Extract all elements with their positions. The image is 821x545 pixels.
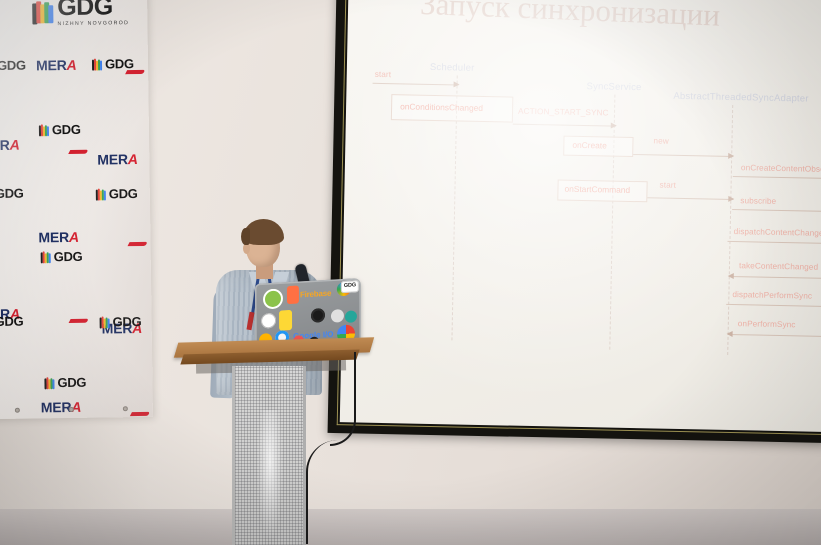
msg-label-dispatchperformsync: dispatchPerformSync [732, 290, 812, 301]
msg-label-new: new [653, 136, 669, 145]
banner-tile-mera: MERA [97, 150, 153, 166]
msg-arrow-action-start-sync [513, 124, 616, 127]
msg-arrow-new [633, 154, 733, 157]
sticker-flame [287, 285, 299, 304]
lifeline-adapter [727, 105, 733, 355]
msg-label-takecontentchanged: takeContentChanged [739, 261, 818, 272]
sticker-green-circle [263, 288, 283, 309]
banner-tile-mera: MERA [38, 228, 153, 244]
power-cable [306, 440, 338, 544]
banner-main-logo: GDG NIZHNY NOVGOROD [31, 0, 129, 27]
msg-arrow-start-adapter [647, 197, 733, 200]
activation-label-onconditionschanged: onConditionsChanged [400, 101, 483, 113]
sticker-gray-circle [331, 309, 344, 323]
msg-arrow-onperformsync [728, 334, 821, 338]
banner-tile-gdg: GDG [100, 313, 142, 332]
lifeline-syncservice [609, 95, 615, 350]
mera-swoosh-icon [128, 242, 148, 246]
banner-grommet [123, 406, 128, 411]
lifeline-label-scheduler: Scheduler [430, 62, 475, 74]
banner-tile-gdg: GDG [92, 55, 134, 74]
msg-arrow-subscribe [732, 209, 821, 213]
banner-tile-gdg: GDG [39, 121, 81, 140]
banner-grommet [69, 407, 74, 412]
msg-label-subscribe: subscribe [740, 196, 776, 206]
sticker-firebase-label: Firebase [300, 289, 331, 300]
projection-screen: Запуск синхронизации Scheduler SyncServi… [328, 0, 821, 443]
gdg-stag-icon [39, 124, 50, 136]
gdg-stag-icon [41, 251, 52, 263]
msg-arrow-oncreatecontentobserver [733, 176, 821, 180]
banner-tile-gdg: GDG [96, 185, 138, 204]
activation-label-onstartcommand: onStartCommand [564, 184, 630, 195]
conference-photo-scene: GDG NIZHNY NOVGOROD GDG MERA [0, 0, 821, 545]
lifeline-label-adapter: AbstractThreadedSyncAdapter [673, 91, 809, 105]
sequence-diagram: Scheduler SyncService AbstractThreadedSy… [340, 0, 821, 432]
sticker-yellow [279, 310, 292, 331]
banner-tile-gdg: GDG [41, 248, 83, 267]
msg-arrow-dispatchperformsync [726, 304, 821, 308]
power-cable [330, 352, 356, 446]
floor [0, 509, 821, 545]
msg-arrow-start [373, 83, 459, 86]
sticker-teal-circle [345, 310, 357, 323]
msg-label-oncreatecontentobserver: onCreateContentObserver [741, 163, 821, 174]
msg-arrow-dispatchcontentchanged [727, 241, 821, 245]
msg-label-start: start [375, 70, 392, 79]
sticker-gdg-label: GDG [344, 282, 356, 289]
mera-swoosh-icon [68, 150, 88, 154]
gdg-stag-icon [92, 58, 103, 70]
sticker-white-circle [261, 313, 276, 329]
sponsor-banner: GDG NIZHNY NOVGOROD GDG MERA [0, 0, 153, 419]
presentation-slide: Запуск синхронизации Scheduler SyncServi… [340, 0, 821, 432]
msg-label-start-adapter: start [660, 181, 677, 190]
banner-tile-gdg: GDG [0, 185, 24, 204]
banner-tile-gdg: GDG [44, 374, 86, 393]
podium-body [232, 366, 306, 545]
gdg-stag-icon [100, 316, 111, 328]
banner-logo-text: GDG NIZHNY NOVGOROD [57, 0, 129, 27]
sticker-hp-logo [311, 308, 325, 323]
banner-tile-mera: MERA [41, 398, 153, 414]
lifeline-label-syncservice: SyncService [586, 81, 641, 93]
msg-label-action-start-sync: ACTION_START_SYNC [518, 107, 609, 118]
banner-grommet [15, 408, 20, 413]
mera-swoosh-icon [69, 319, 89, 323]
mera-swoosh-icon [130, 412, 150, 416]
msg-label-dispatchcontentchanged: dispatchContentChanged [734, 227, 821, 238]
gdg-stag-icon [44, 377, 55, 389]
banner-tile-gdg: GDG [0, 313, 23, 332]
msg-arrow-takecontentchanged [729, 276, 821, 280]
msg-label-onperformsync: onPerformSync [738, 319, 796, 329]
gdg-stag-icon [96, 188, 107, 200]
banner-tile-gdg: GDG [0, 57, 26, 76]
gdg-stag-icon [31, 0, 53, 24]
activation-label-oncreate: onCreate [572, 140, 607, 151]
